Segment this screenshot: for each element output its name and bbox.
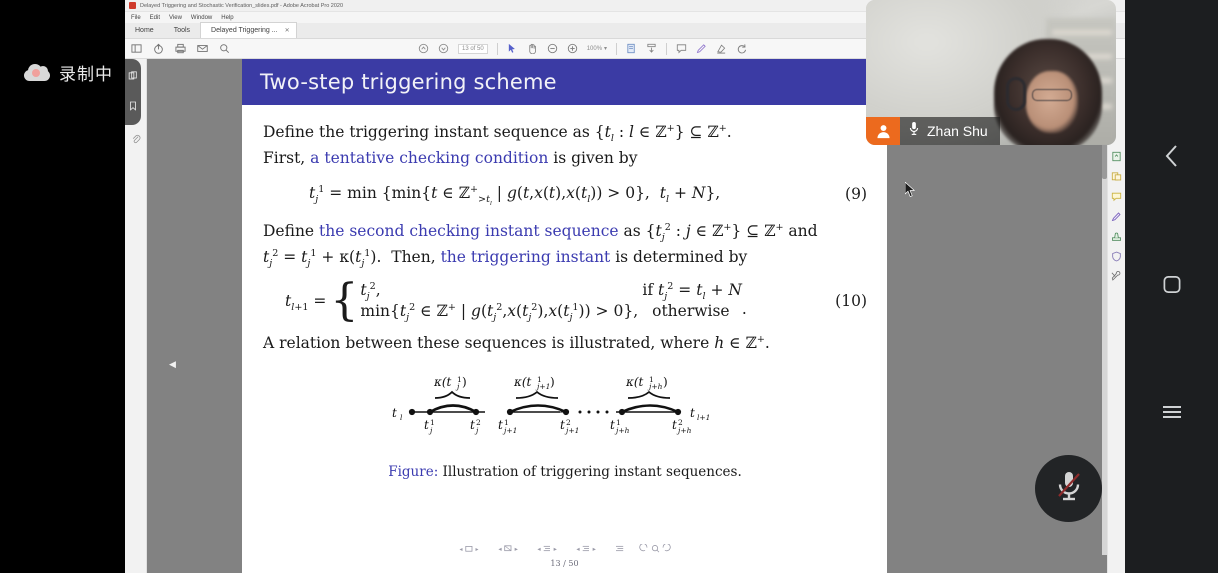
page-down-icon[interactable] — [438, 43, 449, 54]
svg-text:j+h: j+h — [676, 426, 692, 435]
figure-caption-label: Figure: — [388, 464, 438, 480]
rotate-icon[interactable] — [736, 43, 747, 54]
upload-icon[interactable] — [153, 43, 164, 54]
paragraph-3-math: h ∈ ℤ+. — [714, 334, 770, 352]
recording-indicator[interactable]: 录制中 ⌄ — [24, 60, 138, 85]
equation-10-cases: tj2, if tj2 = tl + N min{tj2 ∈ ℤ+ | g(tj… — [360, 280, 742, 322]
export-pdf-icon[interactable] — [1111, 149, 1122, 160]
chevron-down-icon[interactable]: ▾ — [604, 45, 607, 52]
paragraph-2-text-a: Define — [263, 222, 319, 240]
svg-text:κ(t: κ(t — [433, 375, 452, 389]
video-person-face — [1026, 71, 1078, 133]
svg-text:▸: ▸ — [553, 546, 556, 553]
chevron-left-icon[interactable] — [1162, 143, 1182, 174]
svg-text:t: t — [424, 418, 429, 432]
paragraph-2-line-2: tj2 = tj1 + κ(tj1). Then, the triggering… — [263, 244, 867, 270]
equation-9: tj1 = min {min{t ∈ ℤ+>tl | g(t,x(t),x(tl… — [263, 184, 867, 204]
desktop-backdrop-left — [0, 0, 125, 573]
svg-text:t: t — [470, 418, 475, 432]
mute-microphone-button[interactable] — [1035, 455, 1102, 522]
cloud-icon — [24, 64, 50, 81]
page-display-icon[interactable] — [626, 43, 637, 54]
svg-text:t: t — [560, 418, 565, 432]
comment-icon[interactable] — [676, 43, 687, 54]
toolbar-divider — [666, 43, 667, 55]
microphone-muted-icon — [1054, 469, 1084, 508]
svg-text:▸: ▸ — [592, 546, 595, 553]
slide-title: Two-step triggering scheme — [242, 59, 887, 105]
paragraph-1-text-a: Define the triggering instant sequence a… — [263, 123, 595, 141]
svg-text:◂: ◂ — [576, 546, 579, 553]
tab-document[interactable]: Delayed Triggering ... ✕ — [200, 22, 297, 38]
equation-10-period: . — [742, 300, 747, 322]
figure-block: tl κ(t 1j ) — [263, 372, 867, 480]
zoom-in-icon[interactable] — [567, 43, 578, 54]
sidebar-toggle-icon[interactable] — [131, 43, 142, 54]
zoom-out-icon[interactable] — [547, 43, 558, 54]
zoom-level-value: 100% — [587, 46, 602, 52]
svg-text:j+h: j+h — [647, 382, 663, 391]
figure-caption: Figure: Illustration of triggering insta… — [388, 464, 742, 480]
equation-10-case-2: min{tj2 ∈ ℤ+ | g(tj2,x(tj2),x(tj1)) > 0}… — [360, 301, 742, 322]
paragraph-2-text-b: as — [619, 222, 646, 240]
draw-icon[interactable] — [696, 43, 707, 54]
case-1-condition-keyword: if — [642, 281, 653, 299]
paragraph-2-math: {tj2 : j ∈ ℤ+} ⊆ ℤ+ — [646, 222, 784, 240]
highlight-icon[interactable] — [716, 43, 727, 54]
svg-text:t: t — [392, 406, 397, 420]
nav-toc-icon[interactable] — [615, 540, 626, 558]
equation-10-number: (10) — [835, 292, 867, 310]
paragraph-1-text-c: is given by — [548, 149, 637, 167]
case-2-condition-keyword: otherwise — [652, 301, 729, 322]
svg-text:▸: ▸ — [514, 546, 517, 553]
acrobat-logo-icon — [129, 2, 136, 9]
fit-page-icon[interactable] — [646, 43, 657, 54]
screen-root: 录制中 ⌄ Delayed Triggering and Stochastic … — [0, 0, 1218, 573]
paragraph-1-math: {tl : l ∈ ℤ+} ⊆ ℤ+. — [595, 123, 732, 141]
paragraph-2-math-2: tj2 = tj1 + κ(tj1). — [263, 248, 391, 266]
more-tools-icon[interactable] — [1111, 269, 1122, 280]
svg-text:j: j — [455, 382, 460, 391]
nav-frame-icon[interactable]: ◂▸ — [498, 540, 524, 558]
equation-10-lhs: tl+1 = — [285, 292, 326, 310]
svg-text:): ) — [663, 375, 668, 389]
svg-text:l+1: l+1 — [697, 413, 710, 422]
paragraph-1-line-2: First, a tentative checking condition is… — [263, 145, 867, 171]
video-eyeglasses — [1032, 89, 1072, 101]
triggering-timeline-diagram: tl κ(t 1j ) — [390, 372, 740, 450]
hamburger-menu-icon[interactable] — [1161, 404, 1183, 425]
hand-tool-icon[interactable] — [527, 43, 538, 54]
cases-brace: { — [330, 281, 358, 321]
paragraph-2-then: Then, — [391, 248, 440, 266]
recording-label: 录制中 — [59, 60, 113, 85]
paragraph-3: A relation between these sequences is il… — [263, 330, 867, 356]
microphone-icon[interactable] — [908, 121, 920, 141]
equation-10-case-1: tj2, if tj2 = tl + N — [360, 280, 742, 301]
menu-item-file[interactable]: File — [131, 15, 141, 21]
highlighted-phrase-second-checking: the second checking instant sequence — [319, 222, 619, 240]
svg-text:): ) — [462, 375, 467, 389]
svg-text:κ(t: κ(t — [625, 375, 644, 389]
page-up-icon[interactable] — [418, 43, 429, 54]
svg-text:◂: ◂ — [537, 546, 540, 553]
window-title: Delayed Triggering and Stochastic Verifi… — [140, 3, 343, 9]
paragraph-1-text-b: First, — [263, 149, 310, 167]
svg-text:t: t — [498, 418, 503, 432]
slide-page-number: 13 / 50 — [550, 559, 578, 568]
fill-and-sign-icon[interactable] — [1111, 209, 1122, 220]
beamer-nav-row[interactable]: ◂▸ ◂▸ ◂▸ ◂▸ — [459, 540, 671, 558]
page-prev-arrow-icon[interactable]: ◀ — [169, 359, 176, 370]
paragraph-2-text-c: and — [784, 222, 818, 240]
page-thumbnails-icon[interactable] — [128, 68, 138, 86]
svg-text:◂: ◂ — [498, 546, 501, 553]
nav-subsection-icon[interactable]: ◂▸ — [537, 540, 563, 558]
toolbar-divider — [616, 43, 617, 55]
create-pdf-icon[interactable] — [1111, 169, 1122, 180]
nav-slide-icon[interactable]: ◂▸ — [459, 540, 485, 558]
equation-9-body: tj1 = min {min{t ∈ ℤ+>tl | g(t,x(t),x(tl… — [309, 184, 720, 204]
svg-text:κ(t: κ(t — [513, 375, 532, 389]
svg-text:▸: ▸ — [475, 546, 478, 553]
zoom-level-field[interactable]: 100% ▾ — [587, 45, 607, 52]
svg-text:t: t — [672, 418, 677, 432]
paragraph-2-line-1: Define the second checking instant seque… — [263, 218, 867, 244]
paragraph-3-text: A relation between these sequences is il… — [263, 334, 714, 352]
participant-name-bar: Zhan Shu — [866, 117, 1000, 145]
tab-home[interactable]: Home — [125, 22, 164, 38]
svg-text:t: t — [610, 418, 615, 432]
stop-square-icon[interactable] — [1162, 275, 1181, 299]
figure-caption-text: Illustration of triggering instant seque… — [443, 464, 742, 480]
select-tool-icon[interactable] — [507, 43, 518, 54]
participant-name-label: Zhan Shu — [927, 123, 988, 139]
participant-name-chip: Zhan Shu — [900, 117, 1000, 145]
pdf-page: Two-step triggering scheme Define the tr… — [242, 59, 887, 573]
menu-item-window[interactable]: Window — [191, 15, 212, 21]
svg-text:): ) — [550, 375, 555, 389]
print-icon[interactable] — [175, 43, 186, 54]
equation-9-number: (9) — [845, 185, 867, 203]
svg-text:j+1: j+1 — [564, 426, 579, 435]
highlighted-phrase-triggering-instant: the triggering instant — [441, 248, 611, 266]
mouse-cursor — [905, 182, 917, 203]
svg-text:l: l — [400, 413, 403, 422]
svg-text:j+1: j+1 — [502, 426, 517, 435]
nav-back-forward-search-icons[interactable] — [639, 540, 671, 558]
page-number-field[interactable]: 13 of 50 — [458, 44, 488, 54]
acrobat-left-navigation-rail — [125, 59, 147, 573]
menu-item-view[interactable]: View — [169, 15, 182, 21]
close-icon[interactable]: ✕ — [285, 27, 290, 34]
protect-icon[interactable] — [1111, 249, 1122, 260]
attachments-icon[interactable] — [131, 131, 141, 149]
svg-text:j+1: j+1 — [535, 382, 550, 391]
slide-body: Define the triggering instant sequence a… — [242, 105, 887, 480]
email-icon[interactable] — [197, 43, 208, 54]
svg-text:j+h: j+h — [614, 426, 630, 435]
search-icon[interactable] — [219, 43, 230, 54]
paragraph-2-text-d: is determined by — [610, 248, 747, 266]
stamp-icon[interactable] — [1111, 229, 1122, 240]
bookmarks-icon[interactable] — [128, 98, 138, 116]
tab-document-label: Delayed Triggering ... — [211, 27, 278, 34]
video-headphones — [1006, 77, 1026, 111]
slide-navigation-footer: ◂▸ ◂▸ ◂▸ ◂▸ — [242, 537, 887, 571]
equation-10: tl+1 = { tj2, if tj2 = tl + N min{tj2 ∈ … — [263, 280, 867, 322]
menu-item-edit[interactable]: Edit — [150, 15, 160, 21]
toolbar-divider — [497, 43, 498, 55]
person-avatar-icon — [866, 117, 900, 145]
participant-video-tile[interactable]: Zhan Shu — [866, 0, 1116, 145]
nav-section-icon[interactable]: ◂▸ — [576, 540, 602, 558]
svg-text:t: t — [690, 406, 695, 420]
menu-item-help[interactable]: Help — [221, 15, 233, 21]
meeting-control-strip — [1125, 0, 1218, 573]
comment-tool-icon[interactable] — [1111, 189, 1122, 200]
svg-text:◂: ◂ — [459, 546, 462, 553]
tab-tools[interactable]: Tools — [164, 22, 200, 38]
navigation-pane-pill — [125, 59, 141, 125]
paragraph-1-line-1: Define the triggering instant sequence a… — [263, 119, 867, 145]
highlighted-phrase-tentative: a tentative checking condition — [310, 149, 548, 167]
